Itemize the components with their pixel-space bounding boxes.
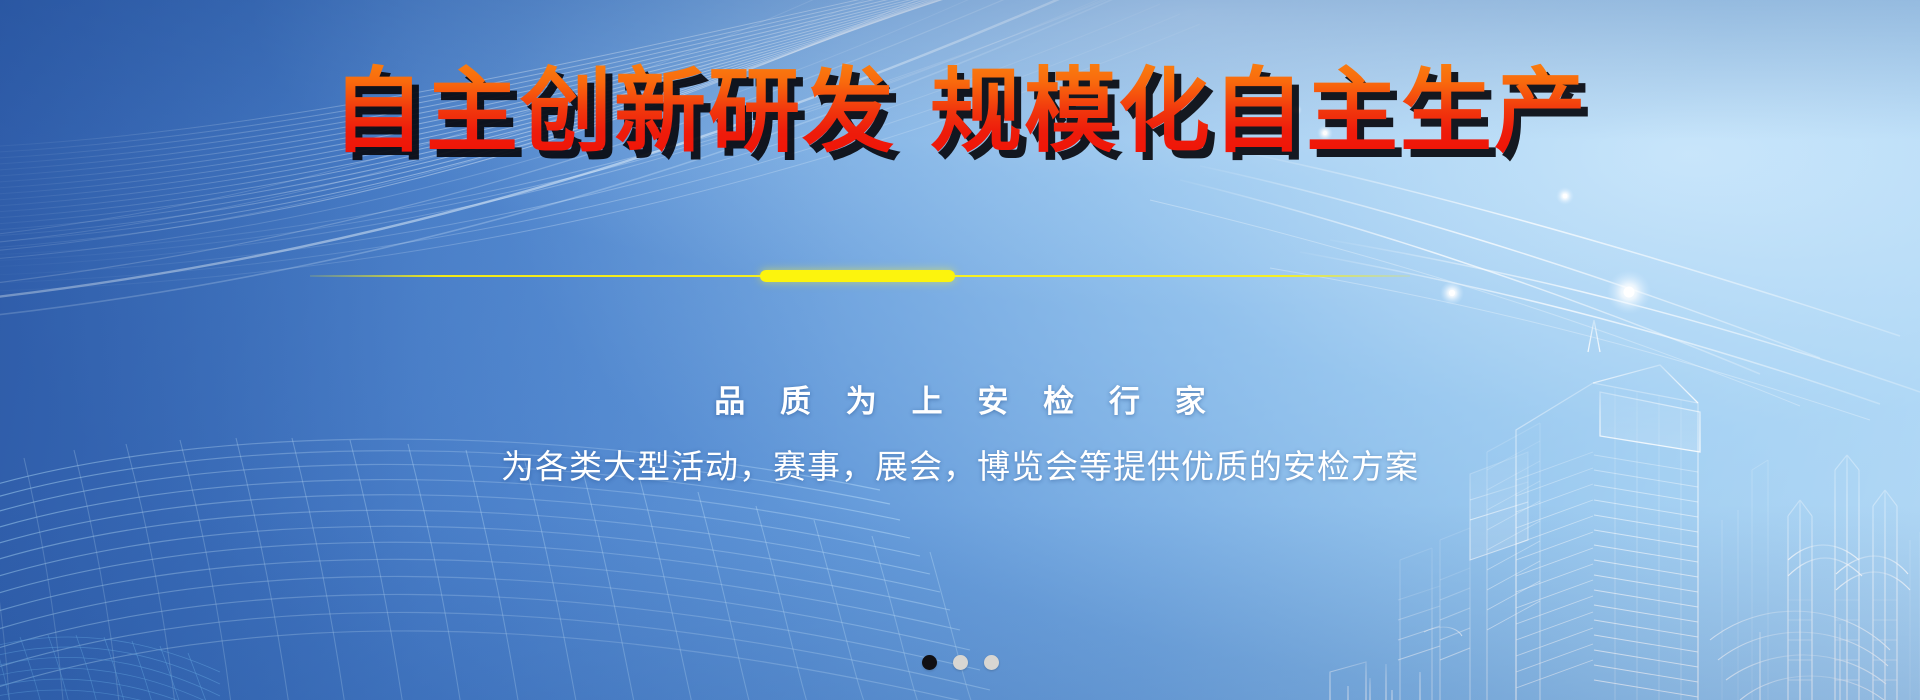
divider [0,268,1920,284]
carousel-dots [0,655,1920,670]
headline-container: 自主创新研发 规模化自主生产 [0,62,1920,161]
carousel-dot-1[interactable] [922,655,937,670]
hero-banner: 自主创新研发 规模化自主生产 品 质 为 上 安 检 行 家 为各类大型活动，赛… [0,0,1920,700]
carousel-dot-2[interactable] [953,655,968,670]
carousel-dot-3[interactable] [984,655,999,670]
subtitle-description: 为各类大型活动，赛事，展会，博览会等提供优质的安检方案 [0,440,1920,488]
divider-center-bar [760,270,955,282]
page-title: 自主创新研发 规模化自主生产 [332,62,1588,161]
subtitle-main: 品 质 为 上 安 检 行 家 [0,376,1920,421]
